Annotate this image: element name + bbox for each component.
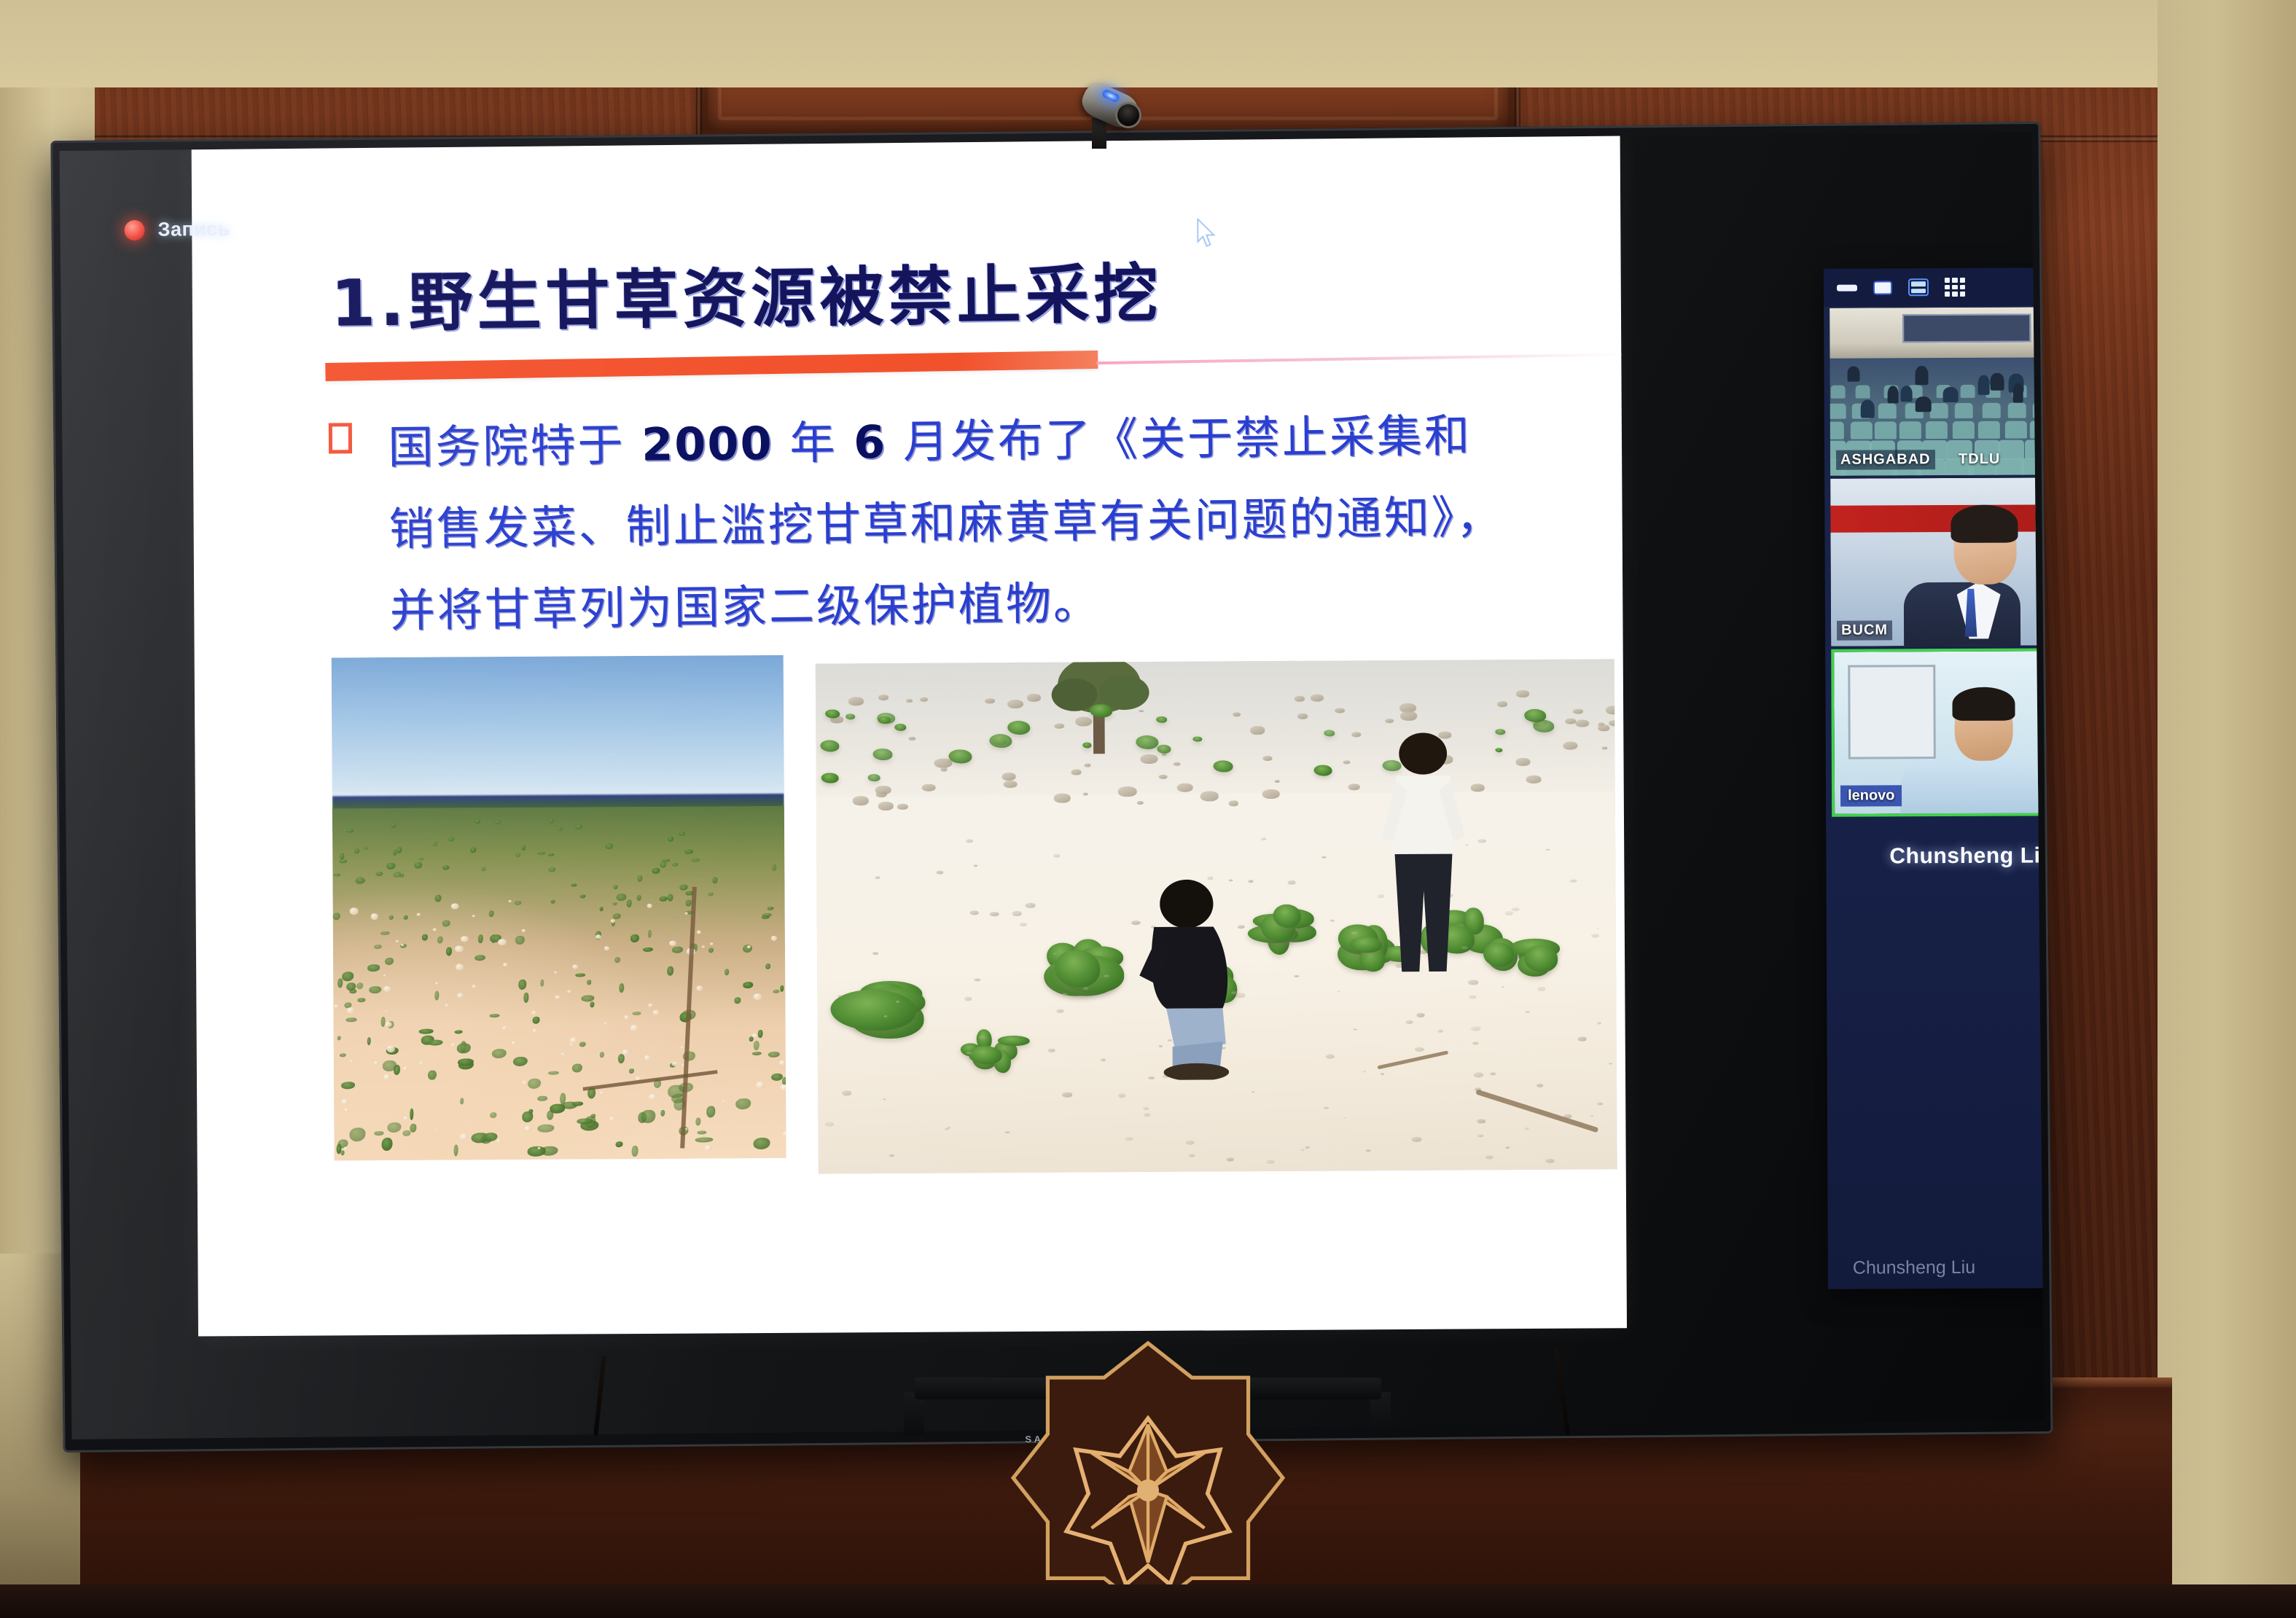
wall-right xyxy=(2158,0,2296,1618)
record-dot-icon xyxy=(124,219,144,240)
video-tile-label-tdlu: TDLU xyxy=(1954,450,2004,469)
split-view-icon[interactable] xyxy=(1908,278,1929,296)
slide-photo-survey xyxy=(816,659,1617,1173)
tile-person-shirt xyxy=(1900,758,2039,817)
body-line-2: 销售发菜、制止滥挖甘草和麻黄草有关问题的通知》， xyxy=(388,475,1614,570)
webcam-icon xyxy=(1076,73,1149,138)
video-tile-label-lenovo: lenovo xyxy=(1840,785,1902,806)
participant-list-entry[interactable]: Chunsheng Liu xyxy=(1853,1257,1975,1279)
body-line-1: 国务院特于 2000 年 6 月发布了《关于禁止采集和 xyxy=(388,394,1613,488)
slide-photo-steppe xyxy=(332,655,786,1161)
tile-person-hair xyxy=(1951,504,2018,542)
tv-screen[interactable]: Запись 1.野生甘草资源被禁止采挖 国务院特于 2000 年 6 月发布了… xyxy=(60,132,2045,1439)
title-underline-tail xyxy=(1096,353,1621,364)
tile-screen-board xyxy=(1902,314,2031,343)
tv-bezel: Запись 1.野生甘草资源被禁止采挖 国务院特于 2000 年 6 月发布了… xyxy=(50,122,2053,1453)
video-tile-label-ashgabad: ASHGABAD xyxy=(1836,450,1935,470)
photo-ridge xyxy=(816,659,1615,796)
tile-wall-frame xyxy=(1848,665,1936,759)
recording-label: Запись xyxy=(157,218,230,241)
webcam-arm xyxy=(1092,118,1106,149)
photo-person-squatting xyxy=(1136,875,1241,1080)
floor-shadow-strip xyxy=(0,1584,2296,1618)
photo-person-standing xyxy=(1375,731,1472,977)
slide-title: 1.野生甘草资源被禁止采挖 xyxy=(330,242,1163,345)
video-tile-label-bucm: BUCM xyxy=(1837,620,1892,640)
recording-indicator: Запись xyxy=(124,218,230,241)
video-tile-bucm[interactable]: BUCM xyxy=(1830,477,2044,646)
mouse-cursor-icon xyxy=(1196,218,1218,249)
active-speaker-name: Chunsheng Liu xyxy=(1826,843,2044,869)
photo-sky xyxy=(332,655,784,804)
body-line-3: 并将甘草列为国家二级保护植物。 xyxy=(389,557,1614,652)
title-underline-bar xyxy=(325,351,1098,381)
presentation-slide[interactable]: 1.野生甘草资源被禁止采挖 国务院特于 2000 年 6 月发布了《关于禁止采集… xyxy=(192,133,1627,1336)
video-tile-ashgabad[interactable]: ASHGABAD TDLU xyxy=(1830,307,2044,476)
television: Запись 1.野生甘草资源被禁止采挖 国务院特于 2000 年 6 月发布了… xyxy=(50,122,2053,1453)
bullet-marker-icon xyxy=(329,423,352,453)
slide-body-text: 国务院特于 2000 年 6 月发布了《关于禁止采集和 销售发菜、制止滥挖甘草和… xyxy=(388,394,1615,652)
grid-view-icon[interactable] xyxy=(1945,278,1965,297)
tile-person-suit xyxy=(1904,582,2020,646)
tile-person-hair xyxy=(1952,687,2015,720)
participant-name: Chunsheng Liu xyxy=(1853,1257,1975,1279)
single-view-icon[interactable] xyxy=(1873,281,1892,294)
video-tile-lenovo-active-speaker[interactable]: lenovo xyxy=(1831,648,2044,817)
video-conference-panel[interactable]: ASHGABAD TDLU BUCM xyxy=(1824,267,2045,1289)
eight-pointed-star-marquetry xyxy=(991,1334,1305,1618)
minimize-icon[interactable] xyxy=(1837,284,1857,291)
video-panel-toolbar[interactable] xyxy=(1824,267,2045,307)
